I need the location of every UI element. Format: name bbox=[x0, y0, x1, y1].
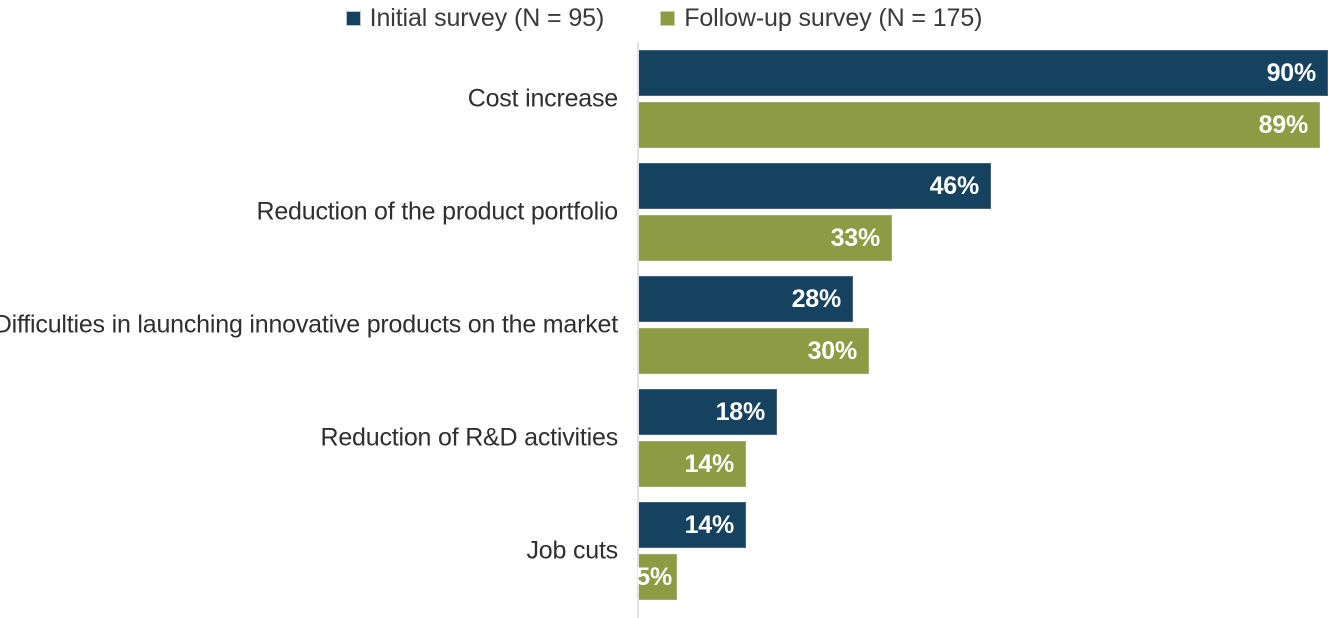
bar-value-label: 14% bbox=[685, 513, 745, 538]
plot-area: Cost increase90%89%Reduction of the prod… bbox=[0, 36, 1328, 617]
category-label: Job cuts bbox=[526, 537, 618, 566]
bar-blue[interactable]: 90% bbox=[639, 50, 1328, 96]
category-label: Difficulties in launching innovative pro… bbox=[0, 311, 618, 340]
category-label: Cost increase bbox=[468, 85, 618, 114]
bar-group: Reduction of the product portfolio46%33% bbox=[0, 163, 1328, 261]
bar-value-label: 18% bbox=[716, 400, 776, 425]
bar-green[interactable]: 5% bbox=[639, 554, 677, 600]
legend-label-initial-survey: Initial survey (N = 95) bbox=[370, 6, 605, 31]
bar-green[interactable]: 89% bbox=[639, 102, 1320, 148]
bar-value-label: 89% bbox=[1259, 113, 1319, 138]
legend-label-followup-survey: Follow-up survey (N = 175) bbox=[684, 6, 982, 31]
grouped-bar-chart: Initial survey (N = 95) Follow-up survey… bbox=[0, 0, 1328, 617]
bar-value-label: 30% bbox=[808, 339, 868, 364]
bar-value-label: 90% bbox=[1267, 61, 1327, 86]
bar-value-label: 28% bbox=[792, 287, 852, 312]
bar-blue[interactable]: 28% bbox=[639, 276, 853, 322]
bar-value-label: 5% bbox=[634, 565, 676, 590]
bar-green[interactable]: 30% bbox=[639, 328, 869, 374]
legend-item-initial-survey[interactable]: Initial survey (N = 95) bbox=[346, 6, 605, 31]
bar-blue[interactable]: 14% bbox=[639, 502, 746, 548]
category-label: Reduction of R&D activities bbox=[320, 424, 618, 453]
bar-blue[interactable]: 18% bbox=[639, 389, 777, 435]
legend-swatch-green-icon bbox=[660, 11, 675, 26]
bar-group: Difficulties in launching innovative pro… bbox=[0, 276, 1328, 374]
bar-value-label: 14% bbox=[685, 452, 745, 477]
bar-group: Reduction of R&D activities18%14% bbox=[0, 389, 1328, 487]
bar-group: Cost increase90%89% bbox=[0, 50, 1328, 148]
category-label: Reduction of the product portfolio bbox=[257, 198, 619, 227]
bar-value-label: 33% bbox=[831, 226, 891, 251]
chart-legend: Initial survey (N = 95) Follow-up survey… bbox=[0, 0, 1328, 36]
bar-green[interactable]: 33% bbox=[639, 215, 892, 261]
bar-blue[interactable]: 46% bbox=[639, 163, 991, 209]
legend-swatch-blue-icon bbox=[346, 11, 361, 26]
legend-item-followup-survey[interactable]: Follow-up survey (N = 175) bbox=[660, 6, 982, 31]
bar-green[interactable]: 14% bbox=[639, 441, 746, 487]
bar-value-label: 46% bbox=[930, 174, 990, 199]
bar-group: Job cuts14%5% bbox=[0, 502, 1328, 600]
